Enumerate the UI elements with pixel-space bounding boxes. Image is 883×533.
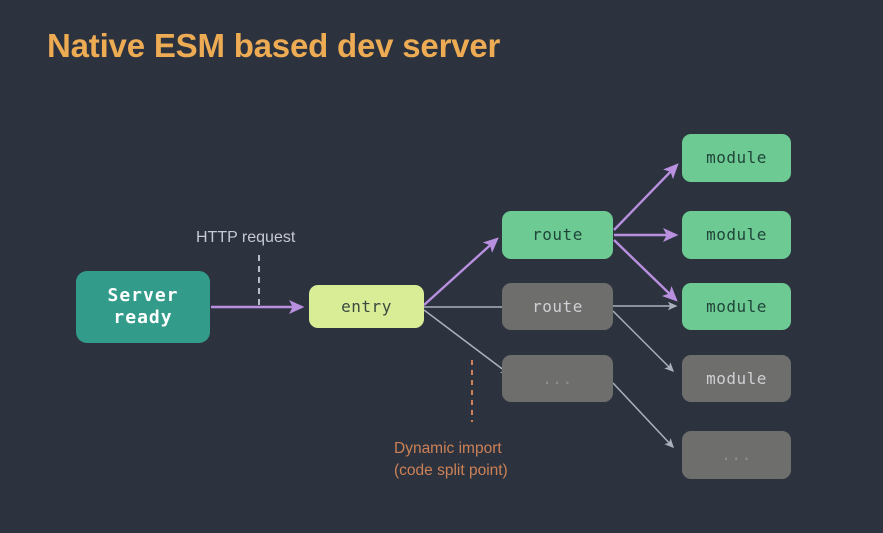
slide-canvas: Native ESM based dev server [0,0,883,533]
node-module-3[interactable]: module [682,283,791,330]
edge-route-inactive-to-module-4 [613,311,673,371]
node-route-active[interactable]: route [502,211,613,259]
http-request-label: HTTP request [196,229,295,247]
edge-route-ellipsis-to-module-ellipsis [613,383,673,447]
node-module-4[interactable]: module [682,355,791,402]
page-title: Native ESM based dev server [47,27,500,65]
edge-route-to-module-1 [614,165,677,230]
node-server-ready[interactable]: Server ready [76,271,210,343]
node-entry[interactable]: entry [309,285,424,328]
node-module-2[interactable]: module [682,211,791,259]
node-route-inactive[interactable]: route [502,283,613,330]
edge-entry-to-route-ellipsis [424,310,509,374]
edge-entry-to-route-active [424,239,497,305]
node-module-ellipsis[interactable]: ... [682,431,791,479]
node-module-1[interactable]: module [682,134,791,182]
edge-route-to-module-3 [614,240,676,300]
dynamic-import-label: Dynamic import (code split point) [394,438,508,482]
node-route-ellipsis[interactable]: ... [502,355,613,402]
